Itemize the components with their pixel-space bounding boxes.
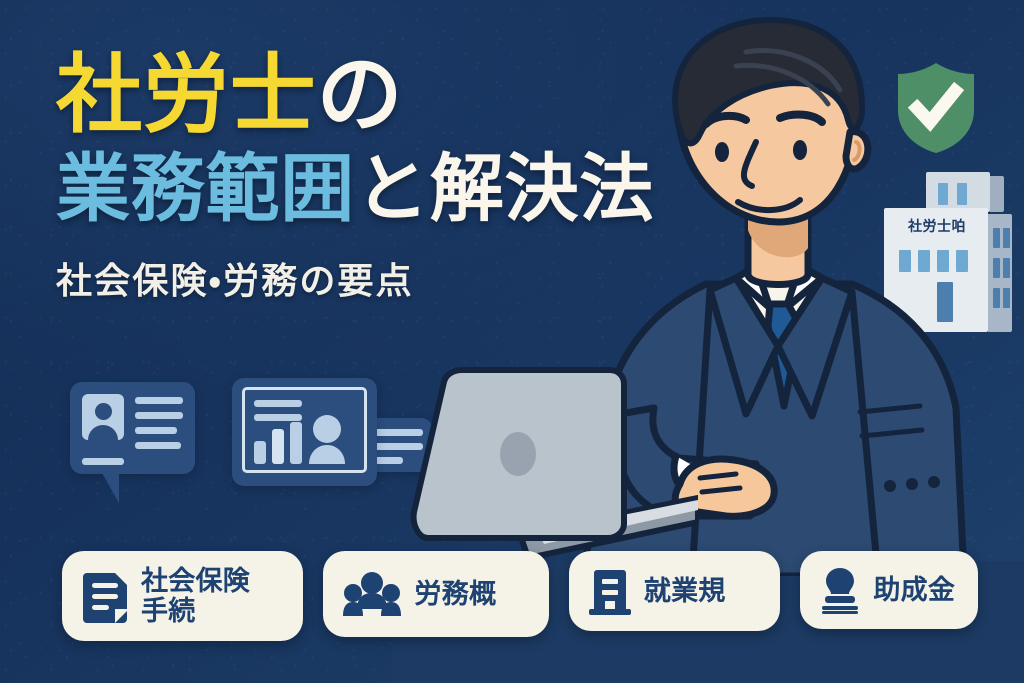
headline-line-1-particle: の: [317, 47, 404, 143]
chip-label-line-2: 手続: [141, 596, 196, 626]
building-side-wall: [988, 214, 1012, 332]
people-icon: [343, 571, 401, 617]
headline-block: 社労士の 業務範囲と解決法 社会保険・労務の要点: [56, 52, 654, 304]
chip-label-line-1: 社会保険: [141, 566, 250, 596]
text-line: [135, 442, 181, 449]
building-upper-side: [990, 176, 1004, 212]
chip-joseikin[interactable]: 助成金: [800, 551, 978, 629]
chip-label-roumu: 労務概: [414, 579, 496, 609]
text-line: [135, 397, 183, 404]
headline-line-2-secondary: と解決法: [355, 147, 654, 230]
avatar-icon: [82, 394, 124, 440]
bubble-tail: [102, 473, 119, 503]
profile-card-bubble: [70, 382, 195, 474]
text-line: [82, 458, 124, 465]
report-card-body: [232, 378, 377, 486]
headline-line-1-primary: 社労士: [56, 47, 317, 143]
document-icon: [82, 569, 128, 623]
laptop-computer: [398, 366, 698, 566]
stamp-icon: [820, 566, 860, 614]
text-line: [135, 427, 177, 434]
chip-label-shakaihoken: 社会保険手続: [141, 566, 250, 626]
text-line: [135, 412, 183, 419]
headline-line-1: 社労士の: [56, 52, 654, 138]
chip-label-shugyo: 就業規: [644, 576, 726, 606]
poster-canvas: 社労士の 業務範囲と解決法 社会保険・労務の要点: [0, 0, 1024, 683]
person-avatar-icon: [232, 378, 377, 486]
headline-line-2-primary: 業務範囲: [56, 147, 355, 230]
chip-roumu-soudan[interactable]: 労務概: [323, 551, 548, 637]
headline-line-2: 業務範囲と解決法: [56, 152, 654, 226]
report-card-bubble: [232, 378, 377, 486]
chip-shugyo-kisoku[interactable]: 就業規: [569, 551, 781, 631]
page-subtitle: 社会保険・労務の要点: [56, 252, 654, 304]
building-icon: [589, 566, 631, 616]
profile-card-body: [70, 382, 195, 474]
chip-label-joseikin: 助成金: [873, 575, 955, 605]
feature-chip-row: 社会保険手続 労務概: [62, 551, 978, 641]
chip-shakaihoken-tetsuzuki[interactable]: 社会保険手続: [62, 551, 303, 641]
